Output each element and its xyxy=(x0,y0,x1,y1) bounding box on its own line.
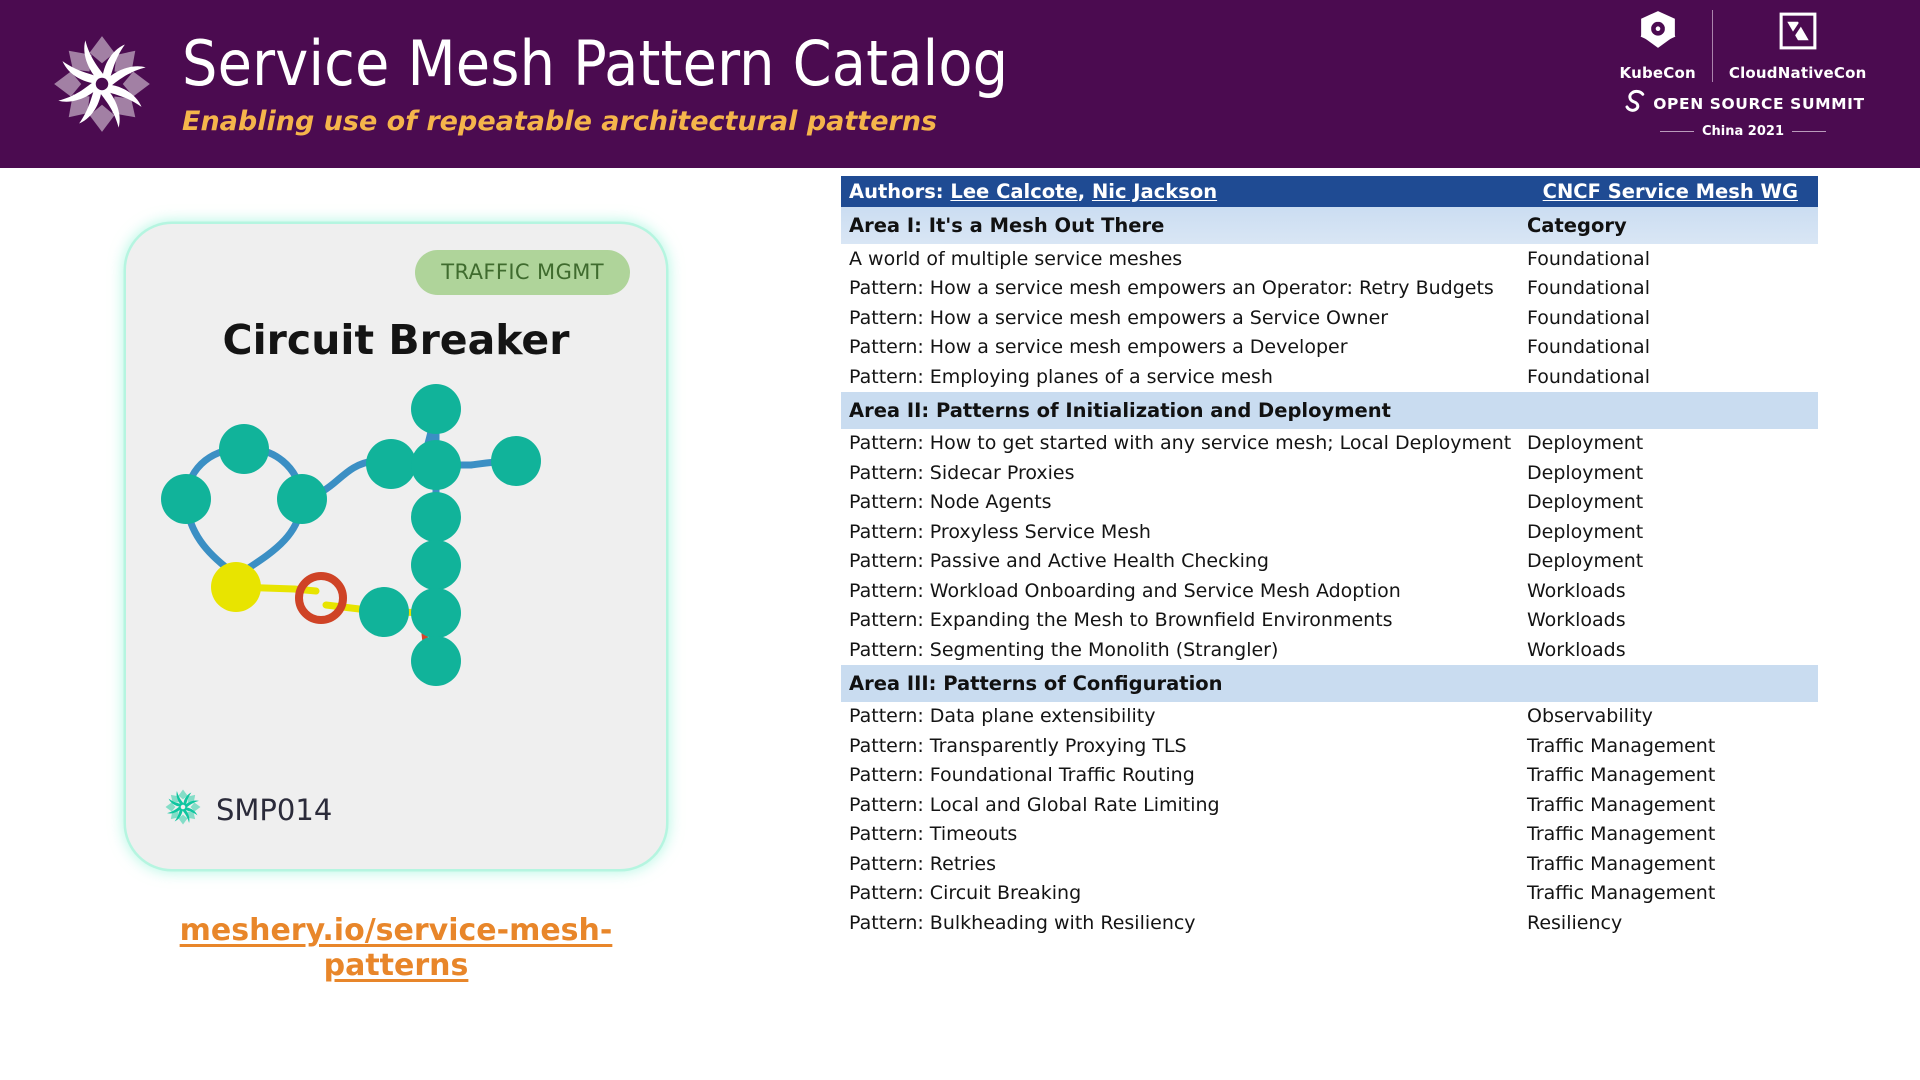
table-row[interactable]: Pattern: Data plane extensibilityObserva… xyxy=(841,702,1818,732)
pattern-category-cell: Workloads xyxy=(1527,580,1818,602)
table-row[interactable]: Pattern: Circuit BreakingTraffic Managem… xyxy=(841,879,1818,909)
table-row[interactable]: Pattern: Workload Onboarding and Service… xyxy=(841,576,1818,606)
pattern-category-cell: Foundational xyxy=(1527,248,1818,270)
kubecon-label: KubeCon xyxy=(1620,64,1696,82)
table-row[interactable]: Pattern: How a service mesh empowers a D… xyxy=(841,333,1818,363)
pattern-category-cell: Traffic Management xyxy=(1527,882,1818,904)
pattern-name-cell: Pattern: Transparently Proxying TLS xyxy=(841,735,1527,757)
author-link-1[interactable]: Lee Calcote xyxy=(950,180,1077,203)
authors-cell: Authors: Lee Calcote , Nic Jackson xyxy=(841,180,1527,203)
pattern-id-label: SMP014 xyxy=(216,793,332,827)
authors-header-row: Authors: Lee Calcote , Nic Jackson CNCF … xyxy=(841,176,1818,207)
meshery-pinwheel-icon xyxy=(164,788,202,831)
area-title: Area III: Patterns of Configuration xyxy=(841,672,1527,695)
pattern-name-cell: Pattern: Passive and Active Health Check… xyxy=(841,550,1527,572)
pattern-category-cell: Resiliency xyxy=(1527,912,1818,934)
rule-right xyxy=(1792,131,1826,132)
table-row[interactable]: Pattern: Proxyless Service MeshDeploymen… xyxy=(841,517,1818,547)
open-source-summit-row: OPEN SOURCE SUMMIT xyxy=(1621,86,1864,121)
pattern-name-cell: Pattern: Workload Onboarding and Service… xyxy=(841,580,1527,602)
table-row[interactable]: Pattern: How to get started with any ser… xyxy=(841,429,1818,459)
pattern-category-cell: Traffic Management xyxy=(1527,764,1818,786)
area-category-header: Category xyxy=(1527,214,1818,237)
pattern-catalog-link[interactable]: meshery.io/service-mesh-patterns xyxy=(126,913,666,983)
pattern-category-cell: Deployment xyxy=(1527,550,1818,572)
author-link-2[interactable]: Nic Jackson xyxy=(1092,180,1217,203)
page-header: Service Mesh Pattern Catalog Enabling us… xyxy=(0,0,1920,168)
pattern-name-cell: Pattern: Sidecar Proxies xyxy=(841,462,1527,484)
pattern-category-cell: Deployment xyxy=(1527,432,1818,454)
page-content: TRAFFIC MGMT Circuit Breaker xyxy=(0,168,1920,1080)
table-row[interactable]: Pattern: How a service mesh empowers a S… xyxy=(841,303,1818,333)
pattern-catalog-table: Authors: Lee Calcote , Nic Jackson CNCF … xyxy=(841,176,1818,938)
working-group-cell: CNCF Service Mesh WG xyxy=(1527,180,1818,203)
open-source-summit-label: OPEN SOURCE SUMMIT xyxy=(1653,95,1864,113)
pattern-category-cell: Deployment xyxy=(1527,491,1818,513)
pattern-name-cell: Pattern: How to get started with any ser… xyxy=(841,432,1527,454)
pattern-category-cell: Traffic Management xyxy=(1527,735,1818,757)
kubecon-block: KubeCon xyxy=(1606,8,1710,82)
pattern-category-cell: Foundational xyxy=(1527,336,1818,358)
catalog-area-header: Area I: It's a Mesh Out ThereCategory xyxy=(841,207,1818,244)
branding-divider xyxy=(1712,10,1713,82)
pattern-name-cell: Pattern: Circuit Breaking xyxy=(841,882,1527,904)
table-row[interactable]: Pattern: RetriesTraffic Management xyxy=(841,849,1818,879)
pattern-name-cell: Pattern: Proxyless Service Mesh xyxy=(841,521,1527,543)
pattern-name-cell: Pattern: Foundational Traffic Routing xyxy=(841,764,1527,786)
table-row[interactable]: Pattern: Transparently Proxying TLSTraff… xyxy=(841,731,1818,761)
pattern-category-cell: Traffic Management xyxy=(1527,853,1818,875)
pattern-name-cell: Pattern: How a service mesh empowers a D… xyxy=(841,336,1527,358)
pattern-category-cell: Workloads xyxy=(1527,609,1818,631)
table-row[interactable]: Pattern: Segmenting the Monolith (Strang… xyxy=(841,635,1818,665)
status-badge: TRAFFIC MGMT xyxy=(415,250,630,295)
table-row[interactable]: Pattern: Local and Global Rate LimitingT… xyxy=(841,790,1818,820)
pattern-name-cell: Pattern: Bulkheading with Resiliency xyxy=(841,912,1527,934)
catalog-area-header: Area III: Patterns of Configuration xyxy=(841,665,1818,702)
pattern-category-cell: Deployment xyxy=(1527,462,1818,484)
page-subtitle: Enabling use of repeatable architectural… xyxy=(182,106,1008,137)
header-text-block: Service Mesh Pattern Catalog Enabling us… xyxy=(182,31,1008,137)
rule-left xyxy=(1660,131,1694,132)
service-mesh-graph-illustration xyxy=(126,369,666,699)
table-row[interactable]: Pattern: Node AgentsDeployment xyxy=(841,488,1818,518)
pattern-card-title: Circuit Breaker xyxy=(126,316,666,364)
cncf-square-icon xyxy=(1775,8,1821,59)
cloudnativecon-label: CloudNativeCon xyxy=(1729,64,1867,82)
pattern-category-cell: Foundational xyxy=(1527,277,1818,299)
table-row[interactable]: Pattern: Bulkheading with ResiliencyResi… xyxy=(841,908,1818,938)
pattern-name-cell: Pattern: Node Agents xyxy=(841,491,1527,513)
table-row[interactable]: Pattern: Passive and Active Health Check… xyxy=(841,547,1818,577)
table-row[interactable]: Pattern: TimeoutsTraffic Management xyxy=(841,820,1818,850)
pattern-name-cell: Pattern: Retries xyxy=(841,853,1527,875)
authors-label: Authors: xyxy=(849,180,944,203)
event-branding: KubeCon CloudNativeCon OP xyxy=(1618,8,1868,139)
kubernetes-helm-icon xyxy=(1635,8,1681,59)
open-source-summit-s-icon xyxy=(1621,86,1651,121)
event-location-row: China 2021 xyxy=(1660,124,1826,139)
area-title: Area II: Patterns of Initialization and … xyxy=(841,399,1527,422)
pattern-id-row: SMP014 xyxy=(164,788,332,831)
pattern-catalog-link-text[interactable]: meshery.io/service-mesh-patterns xyxy=(180,913,613,983)
table-row[interactable]: Pattern: Expanding the Mesh to Brownfiel… xyxy=(841,606,1818,636)
pattern-name-cell: Pattern: Employing planes of a service m… xyxy=(841,366,1527,388)
pattern-name-cell: A world of multiple service meshes xyxy=(841,248,1527,270)
pattern-name-cell: Pattern: Segmenting the Monolith (Strang… xyxy=(841,639,1527,661)
working-group-link[interactable]: CNCF Service Mesh WG xyxy=(1543,180,1798,203)
table-row[interactable]: Pattern: How a service mesh empowers an … xyxy=(841,274,1818,304)
pattern-name-cell: Pattern: Local and Global Rate Limiting xyxy=(841,794,1527,816)
event-location-label: China 2021 xyxy=(1702,124,1784,139)
pattern-name-cell: Pattern: Data plane extensibility xyxy=(841,705,1527,727)
pattern-name-cell: Pattern: Timeouts xyxy=(841,823,1527,845)
cloudnativecon-block: CloudNativeCon xyxy=(1715,8,1881,82)
pattern-name-cell: Pattern: Expanding the Mesh to Brownfiel… xyxy=(841,609,1527,631)
pattern-card[interactable]: TRAFFIC MGMT Circuit Breaker xyxy=(126,224,666,869)
page-title: Service Mesh Pattern Catalog xyxy=(182,31,1008,98)
catalog-area-header: Area II: Patterns of Initialization and … xyxy=(841,392,1818,429)
pattern-category-cell: Deployment xyxy=(1527,521,1818,543)
table-row[interactable]: Pattern: Employing planes of a service m… xyxy=(841,362,1818,392)
catalog-body: Area I: It's a Mesh Out ThereCategoryA w… xyxy=(841,207,1818,938)
pattern-category-cell: Foundational xyxy=(1527,366,1818,388)
pattern-name-cell: Pattern: How a service mesh empowers a S… xyxy=(841,307,1527,329)
kubecon-cloudnativecon-row: KubeCon CloudNativeCon xyxy=(1606,8,1881,82)
table-row[interactable]: A world of multiple service meshesFounda… xyxy=(841,244,1818,274)
pattern-category-cell: Traffic Management xyxy=(1527,794,1818,816)
pattern-category-cell: Traffic Management xyxy=(1527,823,1818,845)
area-title: Area I: It's a Mesh Out There xyxy=(841,214,1527,237)
pattern-category-cell: Workloads xyxy=(1527,639,1818,661)
table-row[interactable]: Pattern: Foundational Traffic RoutingTra… xyxy=(841,761,1818,791)
table-row[interactable]: Pattern: Sidecar ProxiesDeployment xyxy=(841,458,1818,488)
pattern-category-cell: Foundational xyxy=(1527,307,1818,329)
pattern-category-cell: Observability xyxy=(1527,705,1818,727)
pattern-name-cell: Pattern: How a service mesh empowers an … xyxy=(841,277,1527,299)
meshery-pinwheel-icon xyxy=(50,32,154,136)
